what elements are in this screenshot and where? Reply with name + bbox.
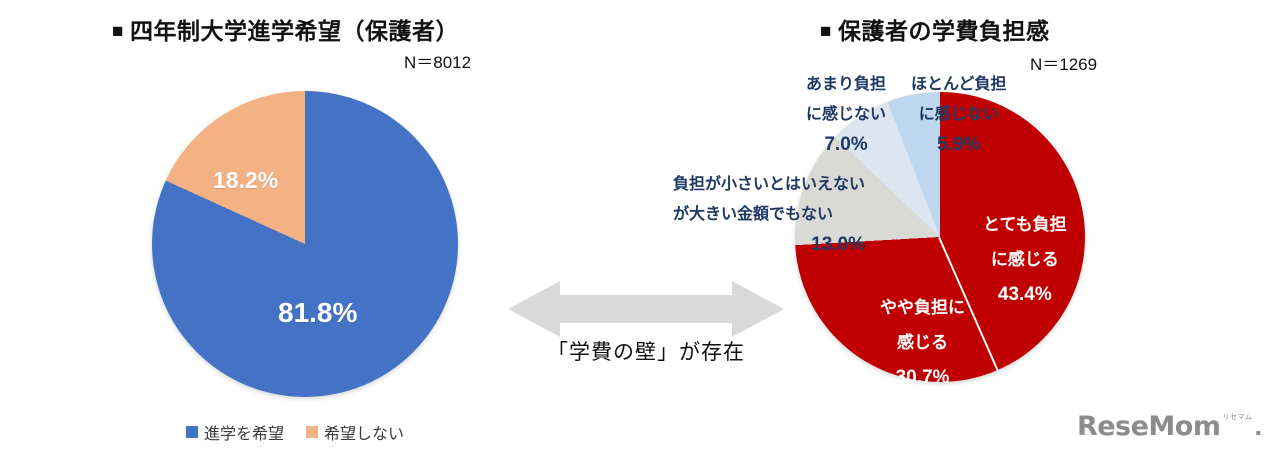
- legend-swatch-blue: [186, 426, 198, 438]
- left-chart-title-text: 四年制大学進学希望（保護者）: [130, 18, 459, 44]
- callout-amari-line2: に感じない: [806, 100, 886, 130]
- left-pie-slice-value-shingaku: 81.8%: [278, 297, 357, 329]
- callout-hotondo-line1: ほとんど負担: [911, 70, 1007, 100]
- resemom-logo-dot: .: [1254, 413, 1262, 440]
- legend-label-kibou-shinai: 希望しない: [324, 420, 404, 444]
- left-pie-chart: [152, 91, 458, 397]
- legend-label-shingaku-wo-kibou: 進学を希望: [204, 420, 284, 444]
- callout-futan-line1: 負担が小さいとはいえない: [673, 170, 865, 200]
- callout-amari-value: 7.0%: [806, 130, 886, 160]
- right-chart-title-text: 保護者の学費負担感: [838, 18, 1050, 44]
- right-chart-title: ■保護者の学費負担感: [820, 12, 1049, 46]
- left-chart-title: ■四年制大学進学希望（保護者）: [112, 12, 459, 46]
- slice-label-yaya-futan: やや負担に 感じる 30.7%: [880, 290, 965, 395]
- callout-futan-chusen: 負担が小さいとはいえない が大きい金額でもない 13.0%: [673, 170, 865, 260]
- resemom-logo-text: ReseMom: [1077, 413, 1221, 440]
- right-chart-sample-size: N＝1269: [1030, 50, 1097, 75]
- slice-label-totemo-value: 43.4%: [983, 277, 1067, 312]
- left-pie-slice-value-kibou-shinai: 18.2%: [213, 167, 278, 194]
- slice-label-totemo-line2: に感じる: [983, 242, 1067, 277]
- callout-futan-value: 13.0%: [673, 230, 865, 260]
- callout-futan-line2: が大きい金額でもない: [673, 200, 865, 230]
- slice-label-yaya-line1: やや負担に: [880, 290, 965, 325]
- slice-label-totemo-futan: とても負担 に感じる 43.4%: [983, 207, 1067, 312]
- legend-item-shingaku-wo-kibou[interactable]: 進学を希望: [186, 420, 284, 444]
- slice-label-yaya-value: 30.7%: [880, 360, 965, 395]
- slide-canvas: ■四年制大学進学希望（保護者） N＝8012 81.8% 18.2% 進学を希望…: [0, 0, 1280, 456]
- slice-label-totemo-line1: とても負担: [983, 207, 1067, 242]
- callout-hotondo-line2: に感じない: [911, 100, 1007, 130]
- bullet-square-icon: ■: [112, 21, 124, 42]
- callout-amari-line1: あまり負担: [806, 70, 886, 100]
- legend-swatch-orange: [306, 426, 318, 438]
- bullet-square-icon: ■: [820, 21, 832, 42]
- legend-item-kibou-shinai[interactable]: 希望しない: [306, 420, 404, 444]
- double-headed-arrow: [508, 279, 784, 339]
- resemom-logo: ReseMom リセマム .: [1077, 412, 1262, 440]
- callout-amari-futan: あまり負担 に感じない 7.0%: [806, 70, 886, 160]
- slice-label-yaya-line2: 感じる: [880, 325, 965, 360]
- resemom-logo-ruby: リセマム: [1222, 412, 1252, 422]
- callout-hotondo-futan: ほとんど負担 に感じない 5.9%: [911, 70, 1007, 160]
- callout-hotondo-value: 5.9%: [911, 130, 1007, 160]
- left-chart-sample-size: N＝8012: [404, 48, 471, 73]
- left-chart-legend: 進学を希望 希望しない: [186, 420, 404, 444]
- arrow-caption: 「学費の壁」が存在: [508, 336, 784, 366]
